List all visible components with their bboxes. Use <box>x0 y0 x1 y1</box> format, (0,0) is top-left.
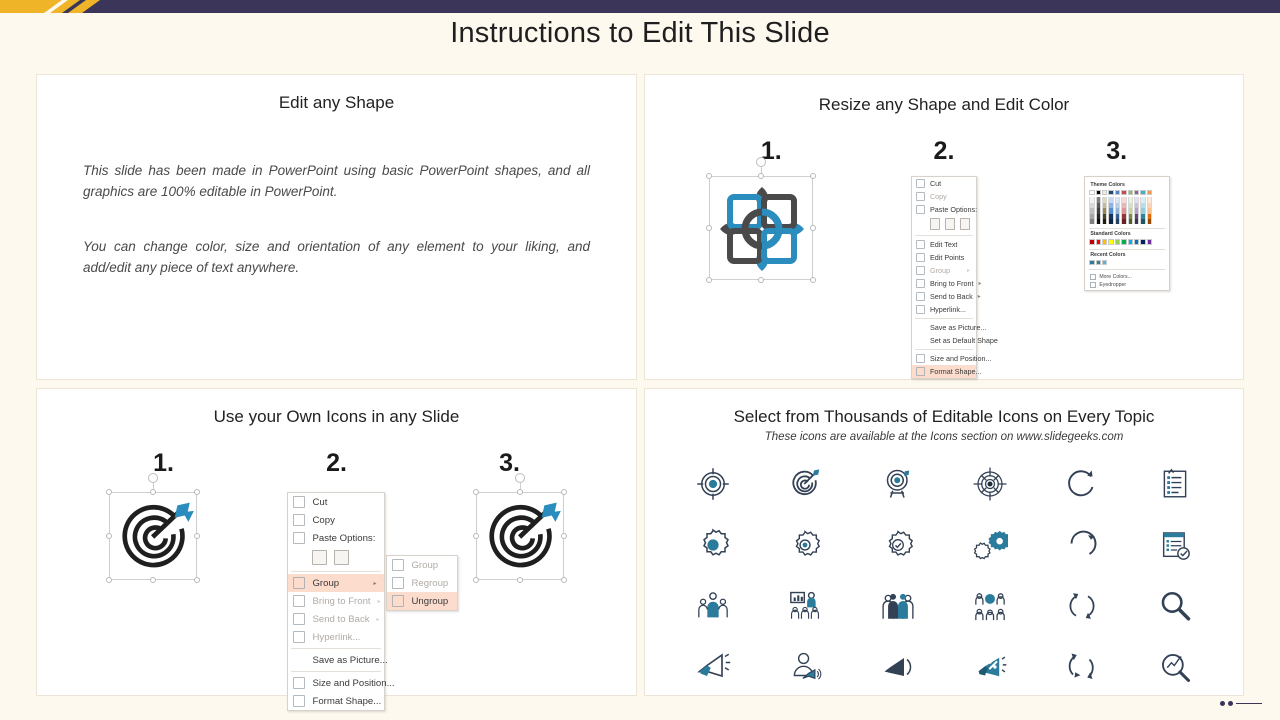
sync-arrows-icon <box>1064 588 1100 624</box>
top-banner <box>0 0 1280 13</box>
context-menu-label: Format Shape... <box>930 367 982 376</box>
edit-points-icon <box>916 253 925 262</box>
eyedropper-icon <box>1090 282 1096 288</box>
icon-cell[interactable] <box>1036 577 1128 634</box>
more-colors-item[interactable]: More Colors... <box>1089 272 1165 280</box>
slide-canvas: Instructions to Edit This Slide Edit any… <box>0 0 1280 720</box>
submenu-label: Regroup <box>411 578 448 589</box>
icons-step-numbers: 1. 2. 3. <box>37 449 636 478</box>
icon-cell[interactable] <box>667 455 759 512</box>
resize-handle-top-middle[interactable] <box>150 489 156 495</box>
footer-dot <box>1220 701 1225 706</box>
group-icon <box>392 559 404 571</box>
paste-icon <box>916 205 925 214</box>
context-menu-item-format-shape[interactable]: Format Shape... <box>288 692 384 710</box>
paste-options-row[interactable] <box>288 547 384 569</box>
context-menu-label: Cut <box>930 179 941 188</box>
context-menu-item-hyperlink[interactable]: Hyperlink... <box>912 303 976 316</box>
footer-bar <box>1236 703 1262 705</box>
chevron-right-icon: ▸ <box>967 267 970 274</box>
context-menu-item-edit-text[interactable]: Edit Text <box>912 238 976 251</box>
resize-handle-middle-left[interactable] <box>106 533 112 539</box>
context-menu-separator <box>291 571 381 572</box>
speaker-icon <box>880 649 916 685</box>
resize-step-figure-2: Cut Copy Paste Options: Edit Text Edit P… <box>853 176 1035 379</box>
standard-swatch[interactable] <box>1108 239 1113 244</box>
icons-step-number-2: 2. <box>251 449 422 478</box>
icon-cell[interactable] <box>944 516 1036 573</box>
quad-shape-icon <box>710 177 814 281</box>
paste-icon <box>293 532 305 544</box>
edit-text-icon <box>916 240 925 249</box>
resize-handle-bottom-left[interactable] <box>106 577 112 583</box>
submenu-item-regroup[interactable]: Regroup <box>387 574 457 592</box>
icon-cell[interactable] <box>944 455 1036 512</box>
context-menu-item-cut[interactable]: Cut <box>288 493 384 511</box>
context-menu-label: Group <box>312 578 339 589</box>
edit-shape-body: This slide has been made in PowerPoint u… <box>37 113 636 279</box>
bring-to-front-icon <box>293 595 305 607</box>
resize-handle-top-middle[interactable] <box>758 173 764 179</box>
resize-step-numbers: 1. 2. 3. <box>645 137 1243 166</box>
theme-swatch[interactable] <box>1108 190 1113 195</box>
standard-swatch[interactable] <box>1096 239 1101 244</box>
context-menu-label: Copy <box>312 515 334 526</box>
tint-column[interactable] <box>1140 197 1145 224</box>
chevron-right-icon: ▸ <box>373 580 376 587</box>
tint-column[interactable] <box>1108 197 1113 224</box>
context-menu-separator <box>291 648 381 649</box>
eyedropper-item[interactable]: Eyedropper <box>1089 280 1165 288</box>
resize-handle-bottom-left[interactable] <box>706 277 712 283</box>
cycle-arrows-icon <box>1064 649 1100 685</box>
standard-swatch[interactable] <box>1140 239 1145 244</box>
standard-colors-label: Standard Colors <box>1090 231 1165 237</box>
target-dart-icon <box>477 493 565 581</box>
panel-title-edit-shape: Edit any Shape <box>37 75 636 113</box>
context-menu-separator <box>291 671 381 672</box>
icon-cell[interactable] <box>667 516 759 573</box>
context-menu-item-save-as-picture[interactable]: Save as Picture... <box>912 321 976 334</box>
context-menu-item-paste-options: Paste Options: <box>288 529 384 547</box>
megaphone-percent-icon <box>973 650 1007 684</box>
theme-tints-grid[interactable] <box>1089 197 1165 224</box>
tint-column[interactable] <box>1096 197 1101 224</box>
save-picture-icon <box>916 323 925 332</box>
tint-column[interactable] <box>1134 197 1139 224</box>
resize-handle-top-left[interactable] <box>106 489 112 495</box>
recent-swatch[interactable] <box>1096 260 1101 265</box>
context-menu-item-format-shape[interactable]: Format Shape... <box>912 365 976 378</box>
context-menu-item-size-and-position[interactable]: Size and Position... <box>912 352 976 365</box>
icons-step-figure-1 <box>62 492 244 580</box>
standard-swatch[interactable] <box>1147 239 1152 244</box>
context-menu-separator <box>915 349 973 350</box>
magnifier-icon <box>1158 589 1192 623</box>
resize-handle-middle-right[interactable] <box>194 533 200 539</box>
eyedropper-label: Eyedropper <box>1099 282 1126 288</box>
panel-own-icons: Use your Own Icons in any Slide 1. 2. 3. <box>36 388 637 696</box>
megaphone-icon <box>695 649 731 685</box>
standard-swatch[interactable] <box>1121 239 1126 244</box>
theme-swatch[interactable] <box>1121 190 1126 195</box>
cut-icon <box>916 179 925 188</box>
context-menu-label: Send to Back <box>312 614 369 625</box>
more-colors-label: More Colors... <box>1099 274 1132 280</box>
icon-cell[interactable] <box>1129 516 1221 573</box>
context-menu-item-paste-options: Paste Options: <box>912 203 976 216</box>
resize-handle-bottom-middle[interactable] <box>150 577 156 583</box>
bring-to-front-icon <box>916 279 925 288</box>
icons-step-figures: Cut Copy Paste Options: Group▸ Bring to … <box>37 492 636 711</box>
context-menu-label: Edit Text <box>930 240 957 249</box>
recent-colors-label: Recent Colors <box>1090 252 1165 258</box>
theme-swatch[interactable] <box>1102 190 1107 195</box>
resize-handle-middle-right[interactable] <box>810 225 816 231</box>
resize-handle-top-left[interactable] <box>706 173 712 179</box>
submenu-item-ungroup[interactable]: Ungroup <box>387 592 457 610</box>
theme-swatch[interactable] <box>1115 190 1120 195</box>
rotation-handle[interactable] <box>148 473 158 483</box>
submenu-item-group[interactable]: Group <box>387 556 457 574</box>
theme-swatch[interactable] <box>1089 190 1094 195</box>
icon-cell[interactable] <box>944 577 1036 634</box>
icon-cell[interactable] <box>1036 516 1128 573</box>
context-menu-label: Format Shape... <box>312 696 381 707</box>
panel-title-own-icons: Use your Own Icons in any Slide <box>37 389 636 427</box>
icon-cell[interactable] <box>759 455 851 512</box>
theme-swatch[interactable] <box>1134 190 1139 195</box>
gear-outline-icon <box>788 528 822 562</box>
panel-edit-any-shape: Edit any Shape This slide has been made … <box>36 74 637 380</box>
context-menu-separator <box>915 318 973 319</box>
send-to-back-icon <box>916 292 925 301</box>
context-menu-label: Bring to Front <box>930 279 974 288</box>
panel-title-resize-shape: Resize any Shape and Edit Color <box>645 75 1243 115</box>
standard-colors-row[interactable] <box>1089 239 1165 244</box>
icon-cell[interactable] <box>1129 455 1221 512</box>
resize-handle-bottom-right[interactable] <box>561 577 567 583</box>
submenu-label: Group <box>411 560 438 571</box>
color-picker-separator <box>1089 249 1165 250</box>
context-menu-label: Save as Picture... <box>312 655 387 666</box>
send-to-back-icon <box>293 613 305 625</box>
icon-cell[interactable] <box>1129 638 1221 695</box>
theme-swatch[interactable] <box>1147 190 1152 195</box>
copy-icon <box>916 192 925 201</box>
context-menu-separator <box>915 235 973 236</box>
theme-swatch[interactable] <box>1128 190 1133 195</box>
context-menu-label: Size and Position... <box>312 678 394 689</box>
standard-swatch[interactable] <box>1089 239 1094 244</box>
context-menu-label: Edit Points <box>930 253 964 262</box>
recent-colors-row[interactable] <box>1089 260 1165 265</box>
format-shape-icon <box>293 695 305 707</box>
resize-handle-top-right[interactable] <box>194 489 200 495</box>
context-menu-item-save-as-picture[interactable]: Save as Picture... <box>288 651 384 669</box>
context-menu-label: Group <box>930 266 950 275</box>
context-menu-label: Save as Picture... <box>930 323 986 332</box>
context-menu-item-bring-to-front[interactable]: Bring to Front▸ <box>288 592 384 610</box>
hyperlink-icon <box>916 305 925 314</box>
regroup-icon <box>392 577 404 589</box>
magnifier-chart-icon <box>1158 650 1192 684</box>
recent-swatch[interactable] <box>1089 260 1094 265</box>
gear-solid-icon <box>695 527 731 563</box>
paste-options-row[interactable] <box>912 216 976 233</box>
resize-handle-top-right[interactable] <box>810 173 816 179</box>
standard-swatch[interactable] <box>1134 239 1139 244</box>
icon-cell[interactable] <box>759 516 851 573</box>
crosshair-target-icon <box>695 466 731 502</box>
icon-cell[interactable] <box>852 455 944 512</box>
rotation-handle[interactable] <box>515 473 525 483</box>
tint-column[interactable] <box>1115 197 1120 224</box>
tint-column[interactable] <box>1121 197 1126 224</box>
resize-handle-bottom-middle[interactable] <box>517 577 523 583</box>
gear-check-icon <box>881 528 915 562</box>
context-menu-item-group[interactable]: Group▸ <box>288 574 384 592</box>
icon-cell[interactable] <box>667 577 759 634</box>
group-icon <box>916 266 925 275</box>
resize-handle-bottom-right[interactable] <box>810 277 816 283</box>
color-picker-separator <box>1089 228 1165 229</box>
context-menu-item-bring-to-front[interactable]: Bring to Front▸ <box>912 277 976 290</box>
standard-swatch[interactable] <box>1115 239 1120 244</box>
radar-target-icon <box>972 466 1008 502</box>
context-menu-item-size-and-position[interactable]: Size and Position... <box>288 674 384 692</box>
presentation-board-icon <box>788 589 822 623</box>
context-menu-item-send-to-back[interactable]: Send to Back▸ <box>288 610 384 628</box>
banner-navy-stripe <box>0 0 1280 13</box>
resize-step-number-1: 1. <box>686 137 857 166</box>
icon-cell[interactable] <box>759 577 851 634</box>
meeting-people-icon <box>973 589 1007 623</box>
standard-swatch[interactable] <box>1128 239 1133 244</box>
icon-cell[interactable] <box>1036 638 1128 695</box>
context-menu-item-set-default-shape[interactable]: Set as Default Shape <box>912 334 976 347</box>
page-title: Instructions to Edit This Slide <box>0 17 1280 50</box>
size-position-icon <box>916 354 925 363</box>
edit-shape-paragraph-1: This slide has been made in PowerPoint u… <box>83 161 590 203</box>
format-shape-icon <box>916 367 925 376</box>
cut-icon <box>293 496 305 508</box>
context-menu-item-send-to-back[interactable]: Send to Back▸ <box>912 290 976 303</box>
default-shape-icon <box>916 336 925 345</box>
resize-handle-bottom-middle[interactable] <box>758 277 764 283</box>
resize-step-number-3: 3. <box>1031 137 1202 166</box>
icon-library-grid <box>645 443 1243 705</box>
target-dart-icon <box>110 493 198 581</box>
context-menu-item-cut[interactable]: Cut <box>912 177 976 190</box>
icon-library-subtitle: These icons are available at the Icons s… <box>645 427 1243 443</box>
chevron-right-icon: ▸ <box>979 280 982 287</box>
resize-step-figure-3: Theme Colors <box>1037 176 1219 291</box>
panel-resize-shape: Resize any Shape and Edit Color 1. 2. 3. <box>644 74 1244 380</box>
gears-pair-icon <box>972 527 1008 563</box>
paste-keep-formatting-icon[interactable] <box>930 218 940 230</box>
rotation-handle[interactable] <box>756 157 766 167</box>
color-picker-dropdown[interactable]: Theme Colors <box>1084 176 1170 291</box>
context-menu-item-hyperlink[interactable]: Hyperlink... <box>288 628 384 646</box>
copy-icon <box>293 514 305 526</box>
group-icon <box>293 577 305 589</box>
chevron-right-icon: ▸ <box>978 293 981 300</box>
icons-step-number-1: 1. <box>78 449 249 478</box>
icon-cell[interactable] <box>852 577 944 634</box>
group-submenu[interactable]: Group Regroup Ungroup <box>386 555 458 611</box>
paste-text-only-icon[interactable] <box>960 218 970 230</box>
resize-step-figure-1 <box>670 176 852 280</box>
tint-column[interactable] <box>1147 197 1152 224</box>
icon-cell[interactable] <box>852 516 944 573</box>
footer-dot <box>1228 701 1233 706</box>
paste-keep-formatting-icon[interactable] <box>312 550 327 565</box>
icon-context-menu[interactable]: Cut Copy Paste Options: Group▸ Bring to … <box>287 492 385 711</box>
hyperlink-icon <box>293 631 305 643</box>
checklist-document-icon <box>1158 467 1192 501</box>
document-approved-icon <box>1158 528 1192 562</box>
size-position-icon <box>293 677 305 689</box>
refresh-clockwise-icon <box>1064 466 1100 502</box>
recent-swatch[interactable] <box>1102 260 1107 265</box>
save-picture-icon <box>293 654 305 666</box>
tint-column[interactable] <box>1128 197 1133 224</box>
resize-step-number-2: 2. <box>859 137 1030 166</box>
shape-selection-box[interactable] <box>709 176 813 280</box>
icon-cell[interactable] <box>944 638 1036 695</box>
resize-handle-middle-right[interactable] <box>561 533 567 539</box>
icon-cell[interactable] <box>1036 455 1128 512</box>
paste-picture-icon[interactable] <box>334 550 349 565</box>
edit-shape-paragraph-2: You can change color, size and orientati… <box>83 237 590 279</box>
target-dart-icon <box>787 466 823 502</box>
context-menu-item-group[interactable]: Group▸ <box>912 264 976 277</box>
icon-cell[interactable] <box>667 638 759 695</box>
palette-icon <box>1090 274 1096 280</box>
resize-handle-top-right[interactable] <box>561 489 567 495</box>
icons-step-number-3: 3. <box>424 449 595 478</box>
icon-cell[interactable] <box>1129 577 1221 634</box>
chevron-right-icon: ▸ <box>378 598 381 605</box>
refresh-counter-icon <box>1064 527 1100 563</box>
context-menu-label: Hyperlink... <box>930 305 966 314</box>
context-menu-item-copy[interactable]: Copy <box>912 190 976 203</box>
theme-swatch[interactable] <box>1096 190 1101 195</box>
panel-title-icon-library: Select from Thousands of Editable Icons … <box>645 389 1243 427</box>
chevron-right-icon: ▸ <box>377 616 380 623</box>
context-menu-label: Send to Back <box>930 292 973 301</box>
context-menu-label: Hyperlink... <box>312 632 360 643</box>
context-menu-item-edit-points[interactable]: Edit Points <box>912 251 976 264</box>
icons-step-figure-2: Cut Copy Paste Options: Group▸ Bring to … <box>246 492 428 711</box>
context-menu-label: Cut <box>312 497 327 508</box>
color-picker-separator <box>1089 269 1165 270</box>
team-group-icon <box>881 589 915 623</box>
context-menu-label: Copy <box>930 192 947 201</box>
standard-swatch[interactable] <box>1102 239 1107 244</box>
resize-step-figures: Cut Copy Paste Options: Edit Text Edit P… <box>645 176 1243 379</box>
context-menu-label: Bring to Front <box>312 596 370 607</box>
tint-column[interactable] <box>1102 197 1107 224</box>
icon-selection-box[interactable] <box>109 492 197 580</box>
person-megaphone-icon <box>788 650 822 684</box>
context-menu-label: Size and Position... <box>930 354 992 363</box>
icon-cell[interactable] <box>759 638 851 695</box>
resize-handle-bottom-right[interactable] <box>194 577 200 583</box>
theme-swatch[interactable] <box>1140 190 1145 195</box>
shape-context-menu[interactable]: Cut Copy Paste Options: Edit Text Edit P… <box>911 176 977 379</box>
icon-cell[interactable] <box>852 638 944 695</box>
context-menu-label: Set as Default Shape <box>930 336 998 345</box>
panel-icon-library: Select from Thousands of Editable Icons … <box>644 388 1244 696</box>
context-menu-label: Paste Options: <box>930 205 977 214</box>
theme-colors-label: Theme Colors <box>1090 182 1165 188</box>
context-menu-label: Paste Options: <box>312 533 375 544</box>
tint-column[interactable] <box>1089 197 1094 224</box>
footer-decoration <box>1220 701 1262 706</box>
target-stand-icon <box>880 466 916 502</box>
paste-picture-icon[interactable] <box>945 218 955 230</box>
submenu-label: Ungroup <box>411 596 448 607</box>
team-leader-icon <box>696 589 730 623</box>
resize-handle-middle-left[interactable] <box>706 225 712 231</box>
ungroup-icon <box>392 595 404 607</box>
ungrouped-icon-selection-box[interactable] <box>476 492 564 580</box>
theme-colors-row[interactable] <box>1089 190 1165 195</box>
context-menu-item-copy[interactable]: Copy <box>288 511 384 529</box>
resize-handle-bottom-left[interactable] <box>473 577 479 583</box>
